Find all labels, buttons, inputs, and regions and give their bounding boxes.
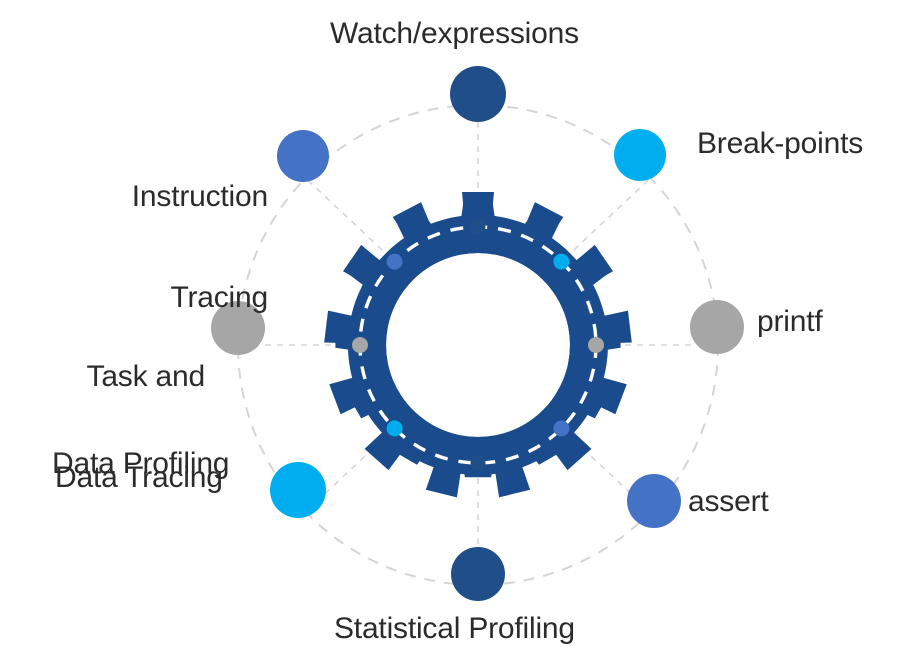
label-assert: assert <box>688 485 769 519</box>
spoke-break-points <box>561 172 657 262</box>
spoke-instruction-tracing <box>299 172 395 262</box>
gear-ring <box>348 215 608 475</box>
node-assert[interactable] <box>627 474 681 528</box>
inner-dot-instruction-tracing <box>387 254 403 270</box>
node-data-profiling[interactable] <box>270 462 326 518</box>
inner-dot-assert <box>553 420 569 436</box>
node-printf[interactable] <box>690 300 744 354</box>
label-printf: printf <box>757 305 823 339</box>
inner-dot-data-profiling <box>387 420 403 436</box>
label-break-points: Break-points <box>697 127 863 161</box>
label-task-and-data-tracing: Task and Data Tracing <box>55 292 205 563</box>
inner-dot-statistical-profiling <box>471 456 486 471</box>
inner-dot-printf <box>588 337 604 353</box>
node-break-points[interactable] <box>614 129 666 181</box>
label-data-profiling: Data Profiling <box>52 447 229 481</box>
inner-dot-break-points <box>553 254 569 270</box>
node-watch-expressions[interactable] <box>450 66 506 122</box>
inner-dot-watch-expressions <box>471 220 486 235</box>
label-task-and-data-tracing-line1: Task and <box>55 360 205 394</box>
label-watch-expressions: Watch/expressions <box>330 17 579 51</box>
inner-dot-task-and-data-tracing <box>352 337 368 353</box>
node-instruction-tracing[interactable] <box>277 130 329 182</box>
label-instruction-tracing-line1: Instruction <box>93 180 268 214</box>
label-statistical-profiling: Statistical Profiling <box>334 612 575 646</box>
diagram-canvas: Watch/expressions Instruction Tracing Br… <box>0 0 898 669</box>
node-statistical-profiling[interactable] <box>451 547 505 601</box>
